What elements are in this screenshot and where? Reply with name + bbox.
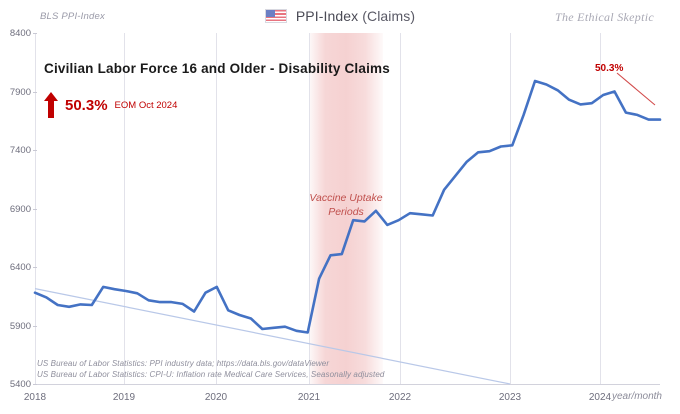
pct-note: EOM Oct 2024	[115, 100, 178, 111]
x-axis-label-2022: 2022	[380, 392, 420, 403]
gridline-2020	[216, 33, 217, 384]
gridline-2023	[510, 33, 511, 384]
page-title-main: PPI-Index	[296, 8, 358, 24]
gridline-2024	[600, 33, 601, 384]
gridline-2019	[124, 33, 125, 384]
x-axis-label-2023: 2023	[490, 392, 530, 403]
pct-callout: 50.3% EOM Oct 2024	[44, 92, 177, 118]
vaccine-uptake-label-line2: Periods	[328, 206, 364, 218]
ethical-skeptic-watermark: The Ethical Skeptic	[555, 10, 654, 25]
vaccine-uptake-label-line1: Vaccine Uptake	[309, 192, 382, 204]
y-axis-label-5900: 5900	[3, 321, 31, 332]
us-flag-icon	[265, 9, 287, 23]
vaccine-uptake-label: Vaccine Uptake Periods	[300, 191, 392, 219]
y-tick-4	[33, 267, 37, 268]
page-title-sub: (Claims)	[362, 8, 415, 24]
y-axis-label-7400: 7400	[3, 145, 31, 156]
y-axis-label-6900: 6900	[3, 204, 31, 215]
y-tick-1	[33, 92, 37, 93]
page-title: PPI-Index (Claims)	[296, 8, 415, 24]
gridline-2021	[309, 33, 310, 384]
y-tick-2	[33, 150, 37, 151]
x-axis-label-2019: 2019	[104, 392, 144, 403]
up-arrow-icon	[44, 92, 58, 118]
y-tick-6	[33, 384, 37, 385]
y-axis-label-7900: 7900	[3, 87, 31, 98]
y-axis-label-5400: 5400	[3, 379, 31, 390]
y-tick-0	[33, 33, 37, 34]
pct-value: 50.3%	[65, 97, 108, 114]
x-axis-line	[35, 384, 660, 385]
y-tick-5	[33, 326, 37, 327]
x-axis-label-2020: 2020	[196, 392, 236, 403]
y-axis-label-6400: 6400	[3, 262, 31, 273]
x-axis-name: year/month	[612, 391, 662, 402]
footnote-line-2: US Bureau of Labor Statistics: CPI-U: In…	[37, 370, 384, 379]
y-tick-3	[33, 209, 37, 210]
footnote-line-1: US Bureau of Labor Statistics: PPI indus…	[37, 359, 329, 368]
x-axis-label-2021: 2021	[289, 392, 329, 403]
red-pointer-line	[608, 68, 664, 110]
y-axis-label-8400: 8400	[3, 28, 31, 39]
x-axis-label-2018: 2018	[15, 392, 55, 403]
gridline-2022	[400, 33, 401, 384]
chart-title: Civilian Labor Force 16 and Older - Disa…	[44, 61, 390, 76]
